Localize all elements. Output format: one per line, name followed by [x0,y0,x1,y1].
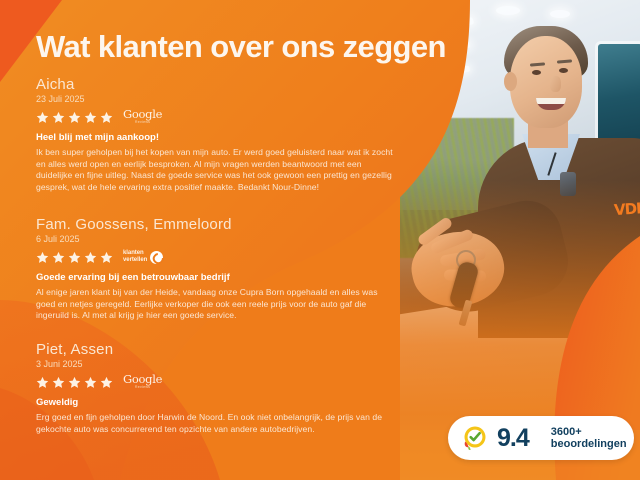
rating-score: 9.4 [497,426,529,451]
klantenvertellen-check-icon [462,425,488,451]
star-icon [68,376,81,389]
reviewer-name: Piet, Assen [36,341,396,358]
page-title: Wat klanten over ons zeggen [36,29,446,65]
review-date: 23 Juli 2025 [36,94,396,105]
review-headline: Geweldig [36,397,396,409]
star-icon [68,111,81,124]
klantenvertellen-line1: klanten [123,250,147,257]
review-banner: VDH [0,0,640,480]
review-date: 3 Juni 2025 [36,359,396,370]
star-icon [52,251,65,264]
google-reviews-logo: Google Reviews [123,374,162,390]
review-count-label: beoordelingen [551,438,627,451]
rating-badge: 9.4 3600+ beoordelingen [448,416,634,460]
star-icon [52,111,65,124]
klantenvertellen-logo: klanten vertellen [123,250,163,264]
star-icon [100,251,113,264]
review-body: Erg goed en fijn geholpen door Harwin de… [36,412,396,435]
review-item: Piet, Assen 3 Juni 2025 Google Reviews G… [36,341,396,435]
reviewer-name: Aicha [36,76,396,93]
klantenvertellen-line2: vertellen [123,257,147,264]
google-wordmark: Google [123,109,162,121]
google-reviews-logo: Google Reviews [123,109,162,125]
review-item: Aicha 23 Juli 2025 Google Reviews Heel b… [36,76,396,193]
review-date: 6 Juli 2025 [36,234,396,245]
star-icon [52,376,65,389]
star-rating [36,376,113,389]
review-headline: Heel blij met mijn aankoop! [36,132,396,144]
google-wordmark: Google [123,374,162,386]
review-headline: Goede ervaring bij een betrouwbaar bedri… [36,272,396,284]
star-icon [36,376,49,389]
review-body: Al enige jaren klant bij van der Heide, … [36,287,396,322]
review-count: 3600+ [551,426,627,439]
star-icon [84,251,97,264]
star-icon [36,251,49,264]
google-reviews-sub: Reviews [123,121,162,125]
star-rating [36,111,113,124]
review-item: Fam. Goossens, Emmeloord 6 Juli 2025 kla… [36,216,396,322]
star-icon [84,111,97,124]
star-icon [84,376,97,389]
star-icon [100,111,113,124]
checkmark-circle-icon [150,251,163,264]
star-rating [36,251,113,264]
reviewer-name: Fam. Goossens, Emmeloord [36,216,396,233]
star-icon [68,251,81,264]
review-body: Ik ben super geholpen bij het kopen van … [36,147,396,193]
star-icon [36,111,49,124]
star-icon [100,376,113,389]
google-reviews-sub: Reviews [123,386,162,390]
